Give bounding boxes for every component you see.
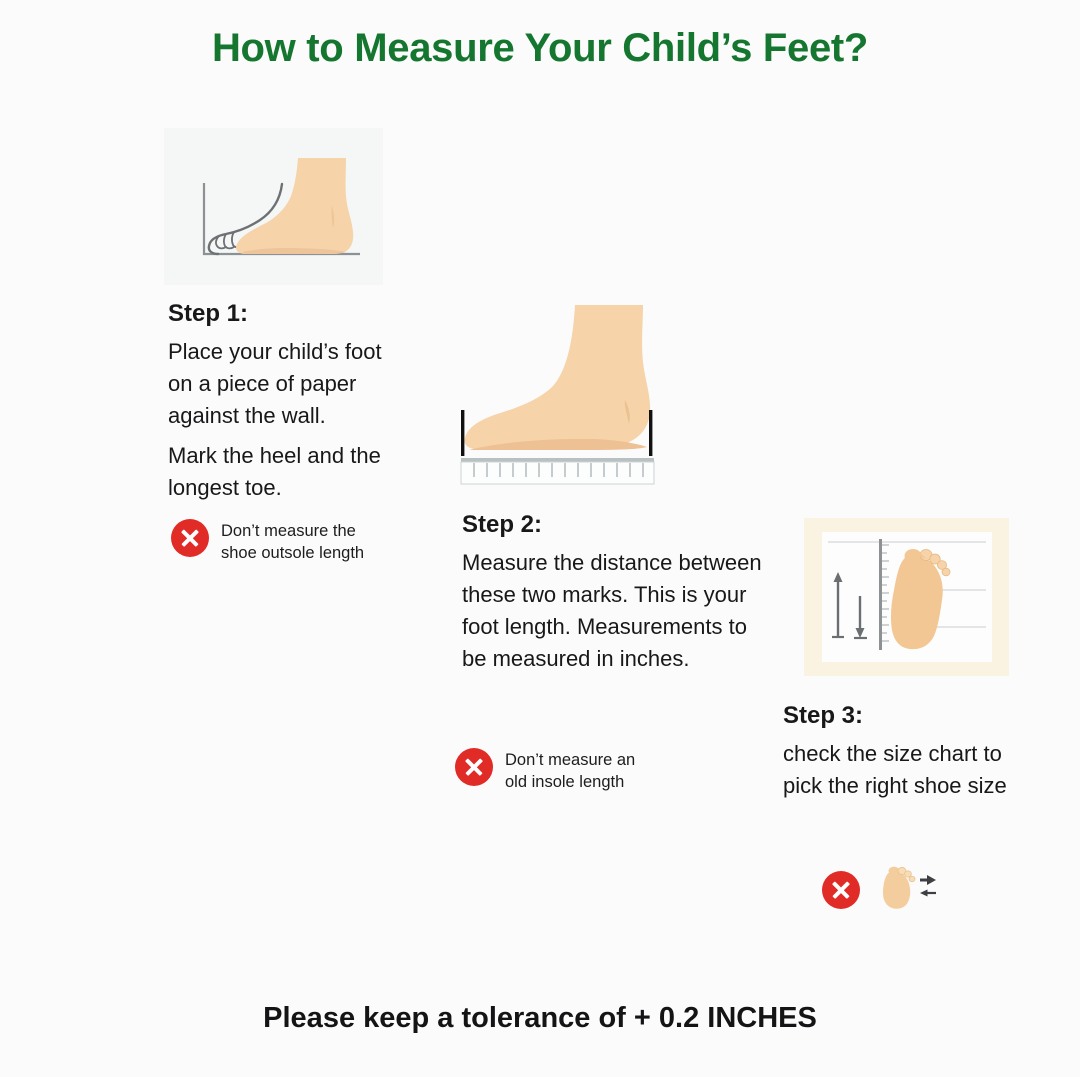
red-x-circle-icon xyxy=(171,519,209,557)
step-3-title: Step 3: xyxy=(783,702,863,730)
toe-mark xyxy=(461,410,464,456)
step-1-body-line-2: Mark the heel and the longest toe. xyxy=(168,440,408,504)
heel-mark xyxy=(649,410,652,456)
footprint-shape xyxy=(891,549,950,649)
step-1-illustration xyxy=(164,128,383,285)
page-title: How to Measure Your Child’s Feet? xyxy=(0,26,1080,71)
red-x-circle-icon xyxy=(822,871,860,909)
length-arrow-down-icon xyxy=(854,596,867,638)
footprint-sole-on-measuring-chart-icon xyxy=(822,532,992,662)
step-2-warning-text: Don’t measure an old insole length xyxy=(505,748,655,793)
infographic-page: How to Measure Your Child’s Feet? Step 1… xyxy=(0,0,1080,1077)
step-2-warning: Don’t measure an old insole length xyxy=(455,748,655,793)
red-x-circle-icon xyxy=(455,748,493,786)
foot-side-against-wall-with-outline-icon xyxy=(164,128,383,285)
foot-side-with-two-marks-and-ruler-icon xyxy=(455,300,680,485)
ruler-icon xyxy=(461,458,654,484)
step-2-body-line-1: Measure the distance between these two m… xyxy=(462,547,774,675)
step-2-illustration xyxy=(455,300,680,485)
step-1-body: Place your child’s foot on a piece of pa… xyxy=(168,336,408,504)
step-2-body: Measure the distance between these two m… xyxy=(462,547,774,675)
step-3-illustration xyxy=(804,518,1009,676)
step-3-body: check the size chart to pick the right s… xyxy=(783,738,1015,802)
step-3-warning xyxy=(822,862,940,917)
step-1-warning-text: Don’t measure the shoe outsole length xyxy=(221,519,371,564)
step-3-measuring-card xyxy=(822,532,992,662)
length-arrow-up-icon xyxy=(832,572,844,637)
step-3-body-line-1: check the size chart to pick the right s… xyxy=(783,738,1015,802)
step-1-warning: Don’t measure the shoe outsole length xyxy=(171,519,371,564)
footprint-width-arrows-icon xyxy=(876,862,940,917)
step-1-body-line-1: Place your child’s foot on a piece of pa… xyxy=(168,336,408,432)
step-1-title: Step 1: xyxy=(168,300,248,328)
tolerance-note: Please keep a tolerance of + 0.2 INCHES xyxy=(0,1002,1080,1035)
step-2-title: Step 2: xyxy=(462,511,542,539)
